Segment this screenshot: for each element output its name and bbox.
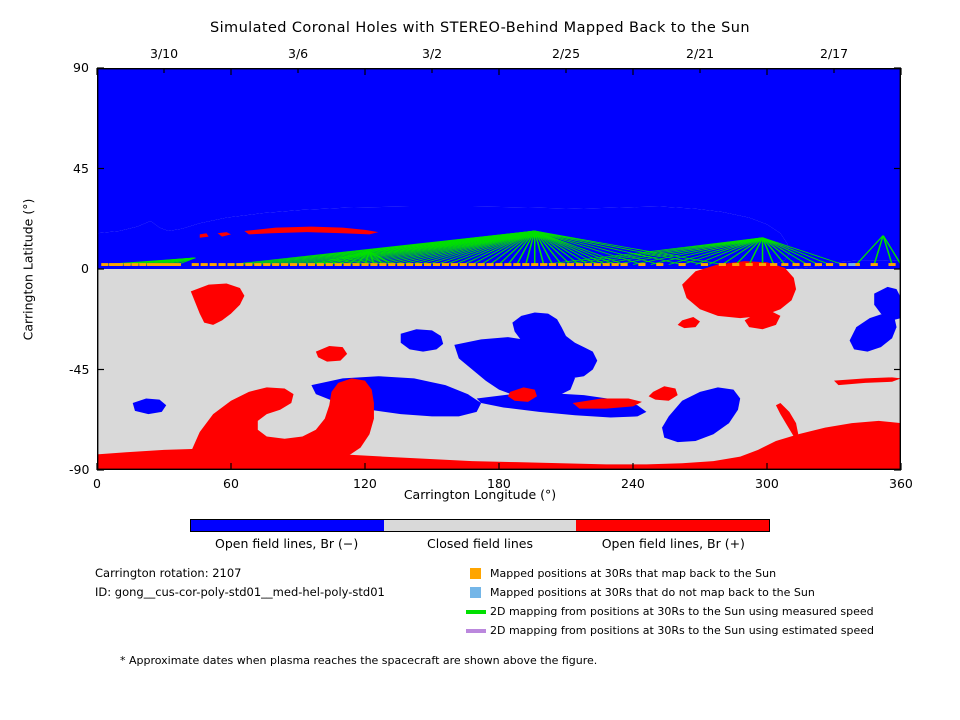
mapped-position-marker <box>442 263 449 266</box>
mapped-position-marker <box>826 263 833 266</box>
mapped-position-marker <box>167 263 174 266</box>
top-date-label: 3/10 <box>150 46 178 61</box>
mapped-position-marker <box>486 263 493 266</box>
mapped-position-marker <box>272 263 279 266</box>
mapped-position-marker <box>124 263 131 266</box>
mapped-position-marker <box>361 263 368 266</box>
top-date-label: 2/17 <box>820 46 848 61</box>
mapped-position-marker <box>139 263 146 266</box>
y-tick-label: -90 <box>69 462 89 477</box>
mapped-position-marker <box>397 263 404 266</box>
color-bar-segment-0 <box>191 520 384 531</box>
mapped-position-marker <box>154 263 161 266</box>
mapped-position-marker <box>245 263 252 266</box>
mapped-position-marker <box>792 263 799 266</box>
mapped-position-marker <box>406 263 413 266</box>
mapped-position-marker <box>451 263 458 266</box>
mapped-position-marker <box>804 263 811 266</box>
x-tick-label: 240 <box>621 476 645 491</box>
y-tick-label: 45 <box>73 161 89 176</box>
x-axis-label: Carrington Longitude (°) <box>0 487 960 502</box>
mapped-position-marker <box>594 263 601 266</box>
mapped-position-marker <box>218 263 225 266</box>
mapped-position-marker <box>781 263 788 266</box>
mapped-position-marker <box>344 263 351 266</box>
mapped-position-marker <box>620 263 627 266</box>
mapped-position-marker <box>638 263 645 266</box>
mapped-position-marker <box>495 263 502 266</box>
color-bar <box>190 519 770 532</box>
mapped-position-marker <box>201 263 208 266</box>
mapped-position-marker <box>317 263 324 266</box>
mapped-position-marker <box>549 263 556 266</box>
mapped-position-marker <box>585 263 592 266</box>
mapped-position-marker <box>679 263 686 266</box>
mapped-position-marker <box>131 263 138 266</box>
mapped-position-marker <box>424 263 431 266</box>
mapped-position-marker <box>558 263 565 266</box>
mapped-position-marker <box>160 263 167 266</box>
legend-item-3: 2D mapping from positions at 30Rs to the… <box>470 621 930 640</box>
mapped-position-marker <box>469 263 476 266</box>
legend-item-2: 2D mapping from positions at 30Rs to the… <box>470 602 930 621</box>
mapped-position-marker <box>531 263 538 266</box>
mapped-position-marker <box>732 263 739 266</box>
legend-item-0: Mapped positions at 30Rs that map back t… <box>470 564 930 583</box>
y-tick-label: -45 <box>69 362 89 377</box>
mapped-position-marker <box>540 263 547 266</box>
mapped-position-marker <box>719 263 726 266</box>
mapped-position-marker <box>815 263 822 266</box>
mapped-position-marker <box>326 263 333 266</box>
x-tick-label: 60 <box>223 476 239 491</box>
mapped-position-marker <box>335 263 342 266</box>
mapped-position-marker <box>701 263 708 266</box>
x-tick-label: 360 <box>889 476 913 491</box>
mapped-position-marker <box>656 263 663 266</box>
mapped-position-marker <box>299 263 306 266</box>
mapped-position-marker <box>612 263 619 266</box>
y-tick-label: 0 <box>81 261 89 276</box>
x-tick-label: 180 <box>487 476 511 491</box>
mapped-position-marker <box>174 263 181 266</box>
legend-item-label: Mapped positions at 30Rs that map back t… <box>490 567 776 580</box>
legend-line-swatch <box>466 610 486 614</box>
mapped-position-marker <box>504 263 511 266</box>
mapped-position-marker <box>433 263 440 266</box>
top-date-label: 3/6 <box>288 46 308 61</box>
mapped-position-marker <box>116 263 123 266</box>
mapped-position-marker <box>576 263 583 266</box>
legend: Mapped positions at 30Rs that map back t… <box>470 564 930 640</box>
legend-item-label: 2D mapping from positions at 30Rs to the… <box>490 605 874 618</box>
mapped-position-marker <box>192 263 199 266</box>
mapped-position-marker <box>281 263 288 266</box>
legend-item-label: Mapped positions at 30Rs that do not map… <box>490 586 815 599</box>
legend-item-1: Mapped positions at 30Rs that do not map… <box>470 583 930 602</box>
mapped-position-markers <box>101 263 895 266</box>
y-tick-label: 90 <box>73 60 89 75</box>
legend-square-swatch <box>470 568 481 579</box>
mapped-position-marker <box>567 263 574 266</box>
mapped-position-marker <box>513 263 520 266</box>
color-bar-label: Open field lines, Br (−) <box>190 536 383 551</box>
color-bar-label: Open field lines, Br (+) <box>577 536 770 551</box>
mapped-position-marker <box>460 263 467 266</box>
model-id-text: ID: gong__cus-cor-poly-std01__med-hel-po… <box>95 585 385 599</box>
color-bar-segment-2 <box>576 520 769 531</box>
mapped-position-marker <box>263 263 270 266</box>
figure-title: Simulated Coronal Holes with STEREO-Behi… <box>0 20 960 36</box>
color-bar-label: Closed field lines <box>383 536 576 551</box>
top-date-label: 2/25 <box>552 46 580 61</box>
top-date-label: 2/21 <box>686 46 714 61</box>
legend-line-swatch <box>466 629 486 633</box>
unmapped-position-marker <box>848 263 855 266</box>
x-tick-label: 120 <box>353 476 377 491</box>
coronal-hole-map <box>97 68 901 470</box>
x-tick-label: 300 <box>755 476 779 491</box>
mapped-position-marker <box>888 263 895 266</box>
mapped-position-marker <box>839 263 846 266</box>
mapped-position-marker <box>770 263 777 266</box>
mapped-position-marker <box>603 263 610 266</box>
mapped-position-marker <box>415 263 422 266</box>
carrington-rotation-text: Carrington rotation: 2107 <box>95 566 242 580</box>
mapped-position-marker <box>147 263 154 266</box>
mapped-position-marker <box>379 263 386 266</box>
mapped-position-marker <box>227 263 234 266</box>
color-bar-segment-1 <box>384 520 577 531</box>
top-date-label: 3/2 <box>422 46 442 61</box>
x-tick-label: 0 <box>93 476 101 491</box>
mapped-position-marker <box>308 263 315 266</box>
mapped-position-marker <box>522 263 529 266</box>
legend-square-swatch <box>470 587 481 598</box>
footnote: * Approximate dates when plasma reaches … <box>120 654 597 667</box>
mapped-position-marker <box>746 263 753 266</box>
map-canvas <box>97 68 901 470</box>
mapped-position-marker <box>101 263 108 266</box>
mapped-position-marker <box>109 263 116 266</box>
legend-item-label: 2D mapping from positions at 30Rs to the… <box>490 624 874 637</box>
mapped-position-marker <box>236 263 243 266</box>
y-axis-label: Carrington Latitude (°) <box>21 150 36 390</box>
mapped-position-marker <box>290 263 297 266</box>
mapped-position-marker <box>254 263 261 266</box>
mapped-position-marker <box>388 263 395 266</box>
mapped-position-marker <box>871 263 878 266</box>
mapped-position-marker <box>352 263 359 266</box>
mapped-position-marker <box>370 263 377 266</box>
mapped-position-marker <box>210 263 217 266</box>
mapped-position-marker <box>478 263 485 266</box>
mapped-position-marker <box>759 263 766 266</box>
